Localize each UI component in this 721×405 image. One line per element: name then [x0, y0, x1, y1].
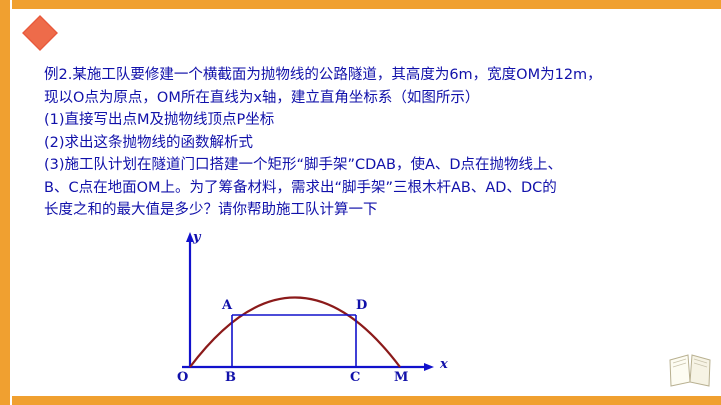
- problem-line-7: 长度之和的最大值是多少？请你帮助施工队计算一下: [44, 199, 704, 222]
- point-label-C: C: [350, 370, 360, 385]
- problem-line-2: 现以O点为原点，OM所在直线为x轴，建立直角坐标系（如图所示）: [44, 87, 704, 110]
- problem-line-1: 例2.某施工队要修建一个横截面为抛物线的公路隧道，其高度为6m，宽度OM为12m…: [44, 64, 704, 87]
- axis-x-label: x: [440, 357, 448, 372]
- slide-canvas: 例2.某施工队要修建一个横截面为抛物线的公路隧道，其高度为6m，宽度OM为12m…: [0, 0, 721, 405]
- point-label-M: M: [394, 370, 408, 385]
- parabola-diagram: y x O B C M A D: [160, 230, 460, 395]
- point-label-O: O: [177, 370, 188, 385]
- top-accent-bar-right: [349, 0, 721, 9]
- point-label-D: D: [356, 298, 367, 313]
- problem-text-block: 例2.某施工队要修建一个横截面为抛物线的公路隧道，其高度为6m，宽度OM为12m…: [44, 64, 704, 222]
- top-accent-bar-left: [12, 0, 349, 9]
- open-book-icon: [668, 352, 712, 388]
- axis-y-label: y: [193, 230, 201, 245]
- problem-line-6: B、C点在地面OM上。为了筹备材料，需求出“脚手架”三根木杆AB、AD、DC的: [44, 177, 704, 200]
- diagram-svg: [160, 230, 460, 395]
- left-accent-rail: [0, 0, 10, 405]
- point-label-A: A: [222, 298, 232, 313]
- point-label-B: B: [225, 370, 236, 385]
- left-rail-divider: [10, 0, 12, 405]
- x-axis-arrow: [424, 363, 434, 371]
- problem-line-5: (3)施工队计划在隧道门口搭建一个矩形“脚手架”CDAB，使A、D点在抛物线上、: [44, 154, 704, 177]
- bottom-accent-bar: [12, 396, 721, 405]
- problem-line-3: (1)直接写出点M及抛物线顶点P坐标: [44, 109, 704, 132]
- red-diamond-decoration: [20, 13, 60, 53]
- problem-line-4: (2)求出这条抛物线的函数解析式: [44, 132, 704, 155]
